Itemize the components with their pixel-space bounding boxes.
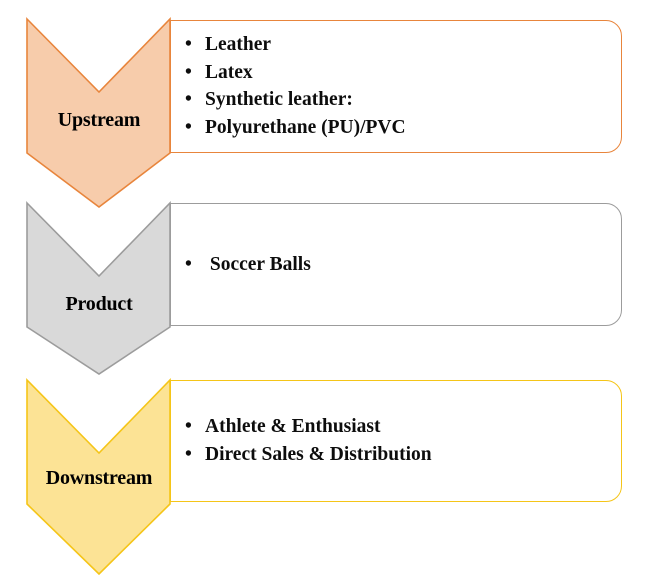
stage-downstream: Downstream •Athlete & Enthusiast •Direct… (0, 378, 645, 585)
list-item: •Leather (183, 31, 621, 59)
product-item-list: • Soccer Balls (171, 204, 621, 279)
list-item: •Latex (183, 59, 621, 87)
bullet-icon: • (185, 114, 192, 142)
list-item: •Athlete & Enthusiast (183, 413, 621, 441)
stage-upstream: Upstream •Leather •Latex •Synthetic leat… (0, 0, 645, 210)
list-item: •Synthetic leather: (183, 86, 621, 114)
stage-product: Product • Soccer Balls (0, 200, 645, 380)
stage-label-product: Product (27, 294, 171, 314)
list-item-label: Latex (205, 62, 253, 83)
bullet-icon: • (185, 31, 192, 59)
bullet-icon: • (185, 251, 192, 279)
list-item-label: Synthetic leather: (205, 89, 353, 110)
panel-downstream: •Athlete & Enthusiast •Direct Sales & Di… (170, 380, 622, 502)
list-item-label: Leather (205, 34, 271, 55)
list-item: •Direct Sales & Distribution (183, 441, 621, 469)
bullet-icon: • (185, 413, 192, 441)
value-chain-diagram: Upstream •Leather •Latex •Synthetic leat… (0, 0, 645, 585)
stage-label-downstream: Downstream (18, 468, 180, 488)
list-item: •Polyurethane (PU)/PVC (183, 114, 621, 142)
panel-product: • Soccer Balls (170, 203, 622, 326)
stage-label-upstream: Upstream (27, 110, 171, 130)
bullet-icon: • (185, 441, 192, 469)
bullet-icon: • (185, 59, 192, 87)
list-item-label: Athlete & Enthusiast (205, 416, 381, 437)
downstream-item-list: •Athlete & Enthusiast •Direct Sales & Di… (171, 381, 621, 468)
panel-upstream: •Leather •Latex •Synthetic leather: •Pol… (170, 20, 622, 153)
bullet-icon: • (185, 86, 192, 114)
list-item-label: Soccer Balls (205, 254, 311, 275)
upstream-item-list: •Leather •Latex •Synthetic leather: •Pol… (171, 21, 621, 142)
list-item-label: Polyurethane (PU)/PVC (205, 117, 406, 138)
list-item-label: Direct Sales & Distribution (205, 444, 432, 465)
list-item: • Soccer Balls (183, 251, 621, 279)
